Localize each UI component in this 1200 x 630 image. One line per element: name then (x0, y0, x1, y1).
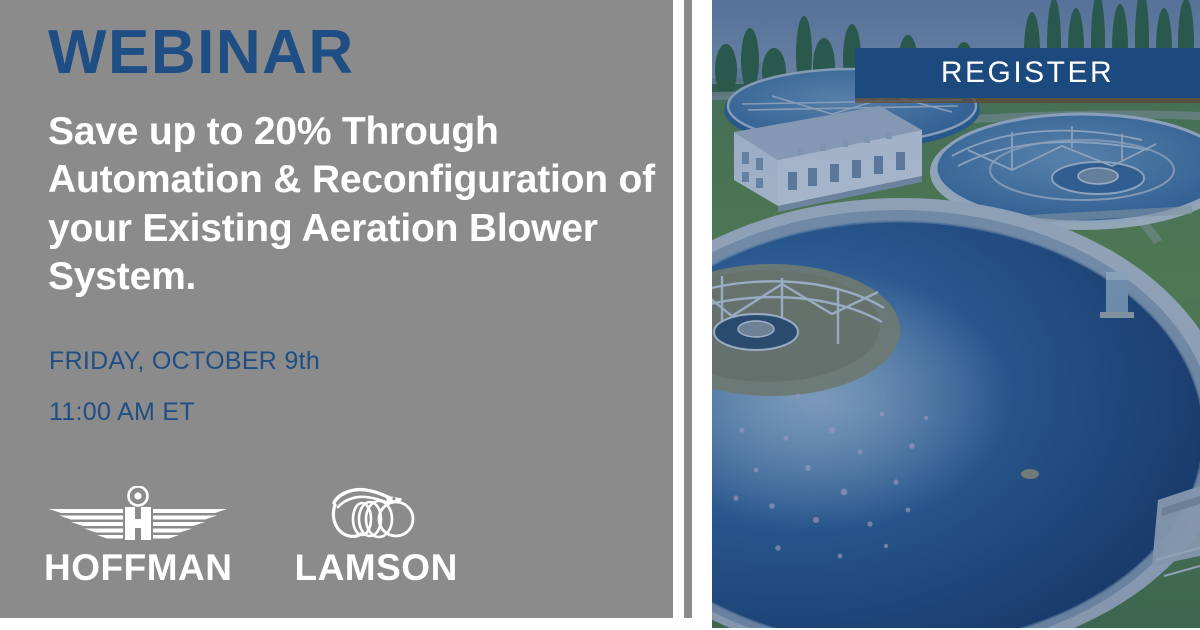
event-time: 11:00 AM ET (49, 400, 320, 425)
logo-lamson: LAMSON (294, 486, 457, 586)
register-button[interactable]: REGISTER (855, 48, 1200, 98)
vertical-divider (684, 0, 692, 618)
dragon-rings-icon (328, 486, 424, 545)
logo-lamson-wordmark: LAMSON (294, 549, 457, 586)
event-date: FRIDAY, OCTOBER 9th (49, 349, 320, 374)
eyebrow-webinar: WEBINAR (48, 22, 355, 84)
register-banner-shadow (855, 98, 1200, 103)
promo-banner-canvas: WEBINAR Save up to 20% Through Automatio… (0, 0, 1200, 630)
register-button-label: REGISTER (941, 58, 1114, 88)
event-datetime: FRIDAY, OCTOBER 9th 11:00 AM ET (49, 349, 320, 425)
page-title: Save up to 20% Through Automation & Reco… (48, 108, 673, 301)
winged-h-icon (47, 486, 229, 545)
logo-hoffman-wordmark: HOFFMAN (44, 549, 232, 586)
left-content-panel: WEBINAR Save up to 20% Through Automatio… (0, 0, 673, 618)
logo-hoffman: HOFFMAN (44, 486, 232, 586)
logo-row: HOFFMAN (44, 486, 458, 586)
